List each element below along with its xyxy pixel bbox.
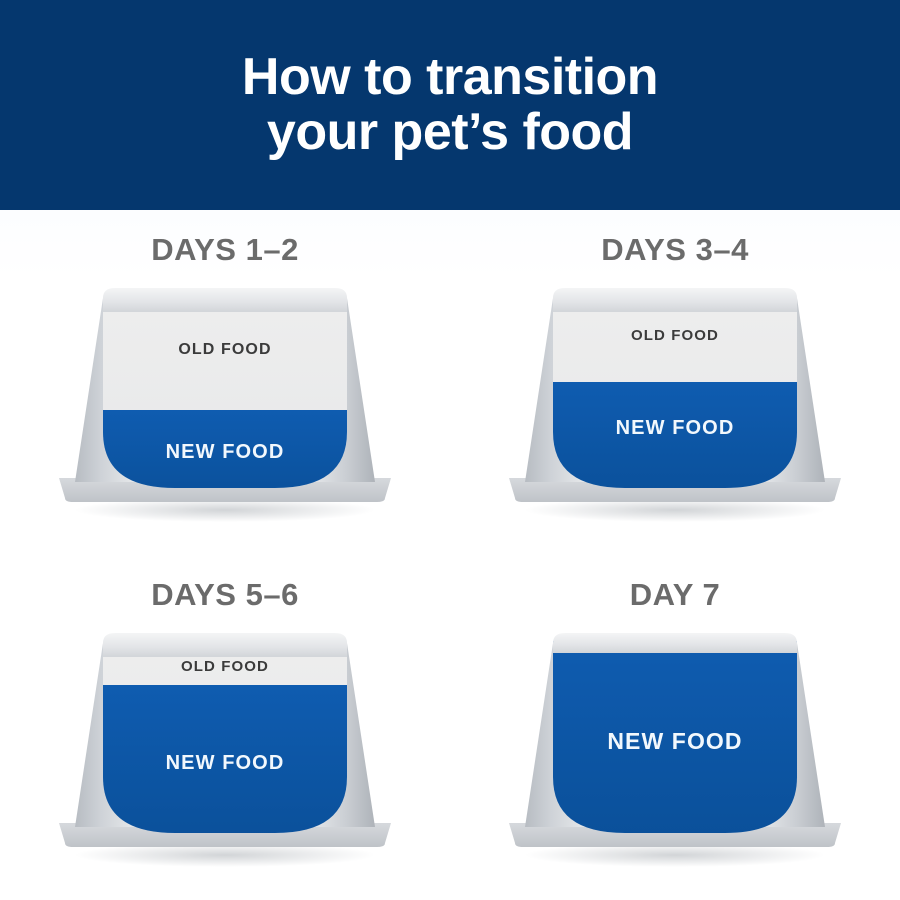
step-label: DAY 7: [450, 577, 900, 613]
page-title: How to transition your pet’s food: [242, 50, 658, 160]
new-food-label: NEW FOOD: [616, 417, 735, 439]
step-card-day-7: DAY 7: [450, 555, 900, 900]
step-label: DAYS 3–4: [450, 232, 900, 268]
old-food-label: OLD FOOD: [181, 658, 269, 675]
bowl-graphic: OLD FOOD NEW FOOD: [45, 282, 405, 532]
steps-grid: DAYS 1–2: [0, 210, 900, 900]
bowl-graphic: NEW FOOD: [495, 627, 855, 877]
food-bowl-days-3-4: OLD FOOD NEW FOOD: [495, 282, 855, 532]
bowl-rim: [553, 633, 797, 653]
step-card-days-3-4: DAYS 3–4: [450, 210, 900, 555]
food-bowl-days-5-6: OLD FOOD NEW FOOD: [45, 627, 405, 877]
infographic-page: How to transition your pet’s food DAYS 1…: [0, 0, 900, 900]
new-food-label: NEW FOOD: [166, 441, 285, 463]
food-bowl-days-1-2: OLD FOOD NEW FOOD: [45, 282, 405, 532]
new-food-label: NEW FOOD: [166, 752, 285, 774]
step-card-days-1-2: DAYS 1–2: [0, 210, 450, 555]
step-label: DAYS 1–2: [0, 232, 450, 268]
step-card-days-5-6: DAYS 5–6: [0, 555, 450, 900]
bowl-graphic: OLD FOOD NEW FOOD: [495, 282, 855, 532]
bowl-rim: [103, 288, 347, 312]
step-label: DAYS 5–6: [0, 577, 450, 613]
bowl-rim: [553, 288, 797, 312]
header-banner: How to transition your pet’s food: [0, 0, 900, 210]
food-bowl-day-7: NEW FOOD: [495, 627, 855, 877]
new-food-label: NEW FOOD: [607, 728, 742, 754]
steps-area: DAYS 1–2: [0, 210, 900, 900]
old-food-label: OLD FOOD: [631, 327, 719, 344]
bowl-graphic: OLD FOOD NEW FOOD: [45, 627, 405, 877]
old-food-label: OLD FOOD: [178, 341, 271, 358]
bowl-rim: [103, 633, 347, 657]
